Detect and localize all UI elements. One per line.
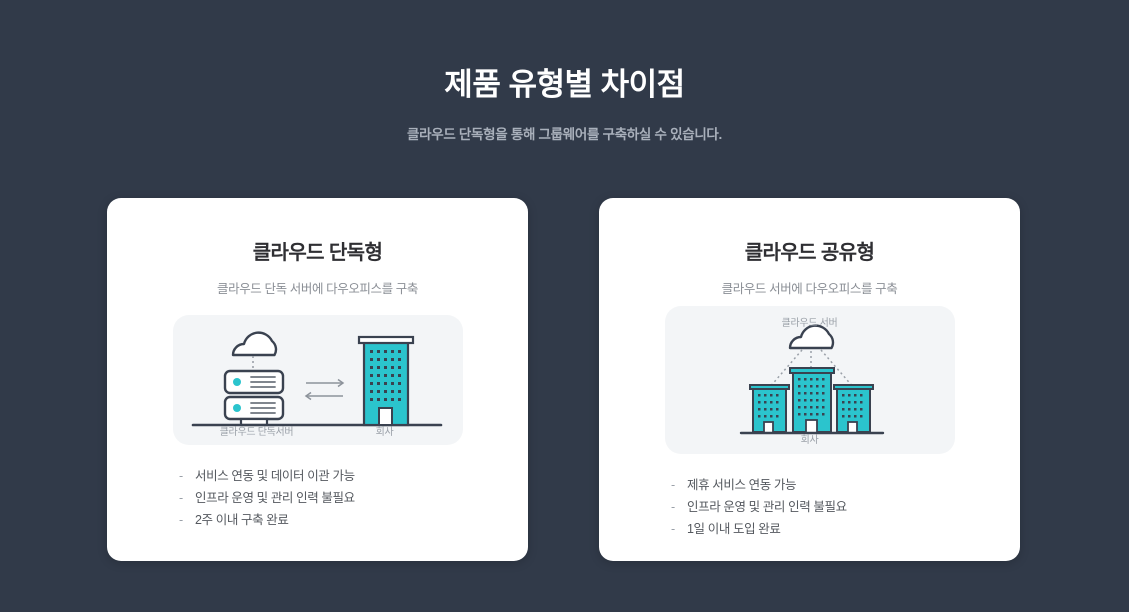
card-subtitle: 클라우드 단독 서버에 다우오피스를 구축 bbox=[217, 278, 418, 297]
page-header: 제품 유형별 차이점 클라우드 단독형을 통해 그룹웨어를 구축하실 수 있습니… bbox=[0, 66, 1129, 143]
illustration-label-company: 회사 bbox=[665, 431, 955, 446]
list-item: - 서비스 연동 및 데이터 이관 가능 bbox=[179, 465, 528, 487]
shared-server-illustration: 클라우드 서버 회사 bbox=[665, 306, 955, 454]
list-item: - 인프라 운영 및 관리 인력 불필요 bbox=[179, 487, 528, 509]
list-item-label: 인프라 운영 및 관리 인력 불필요 bbox=[195, 487, 355, 509]
list-item-label: 인프라 운영 및 관리 인력 불필요 bbox=[687, 496, 847, 518]
card-title: 클라우드 공유형 bbox=[745, 236, 875, 265]
bullet-marker-icon: - bbox=[179, 509, 195, 531]
page-title: 제품 유형별 차이점 bbox=[0, 66, 1129, 103]
illustration-label-server: 클라우드 단독서버 bbox=[202, 423, 312, 438]
dedicated-server-illustration: 클라우드 단독서버 회사 bbox=[173, 315, 463, 445]
list-item: - 2주 이내 구축 완료 bbox=[179, 509, 528, 531]
bullet-marker-icon: - bbox=[671, 474, 687, 496]
list-item-label: 2주 이내 구축 완료 bbox=[195, 509, 288, 531]
card-title: 클라우드 단독형 bbox=[253, 236, 383, 265]
list-item-label: 1일 이내 도입 완료 bbox=[687, 518, 780, 540]
bullet-marker-icon: - bbox=[179, 465, 195, 487]
list-item: - 인프라 운영 및 관리 인력 불필요 bbox=[671, 496, 1020, 518]
illustration-label-cloud-server: 클라우드 서버 bbox=[665, 314, 955, 329]
comparison-cards: 클라우드 단독형 클라우드 단독 서버에 다우오피스를 구축 bbox=[107, 198, 1020, 561]
bullet-marker-icon: - bbox=[179, 487, 195, 509]
card-cloud-dedicated[interactable]: 클라우드 단독형 클라우드 단독 서버에 다우오피스를 구축 bbox=[107, 198, 528, 561]
bullet-marker-icon: - bbox=[671, 518, 687, 540]
list-item: - 1일 이내 도입 완료 bbox=[671, 518, 1020, 540]
product-comparison-page: 제품 유형별 차이점 클라우드 단독형을 통해 그룹웨어를 구축하실 수 있습니… bbox=[0, 0, 1129, 612]
bullet-marker-icon: - bbox=[671, 496, 687, 518]
illustration-label-company: 회사 bbox=[335, 423, 435, 438]
feature-list: - 제휴 서비스 연동 가능 - 인프라 운영 및 관리 인력 불필요 - 1일… bbox=[599, 474, 1020, 540]
card-cloud-shared[interactable]: 클라우드 공유형 클라우드 서버에 다우오피스를 구축 bbox=[599, 198, 1020, 561]
card-subtitle: 클라우드 서버에 다우오피스를 구축 bbox=[722, 278, 898, 297]
feature-list: - 서비스 연동 및 데이터 이관 가능 - 인프라 운영 및 관리 인력 불필… bbox=[107, 465, 528, 531]
list-item-label: 서비스 연동 및 데이터 이관 가능 bbox=[195, 465, 355, 487]
page-subtitle: 클라우드 단독형을 통해 그룹웨어를 구축하실 수 있습니다. bbox=[0, 123, 1129, 143]
list-item: - 제휴 서비스 연동 가능 bbox=[671, 474, 1020, 496]
list-item-label: 제휴 서비스 연동 가능 bbox=[687, 474, 796, 496]
